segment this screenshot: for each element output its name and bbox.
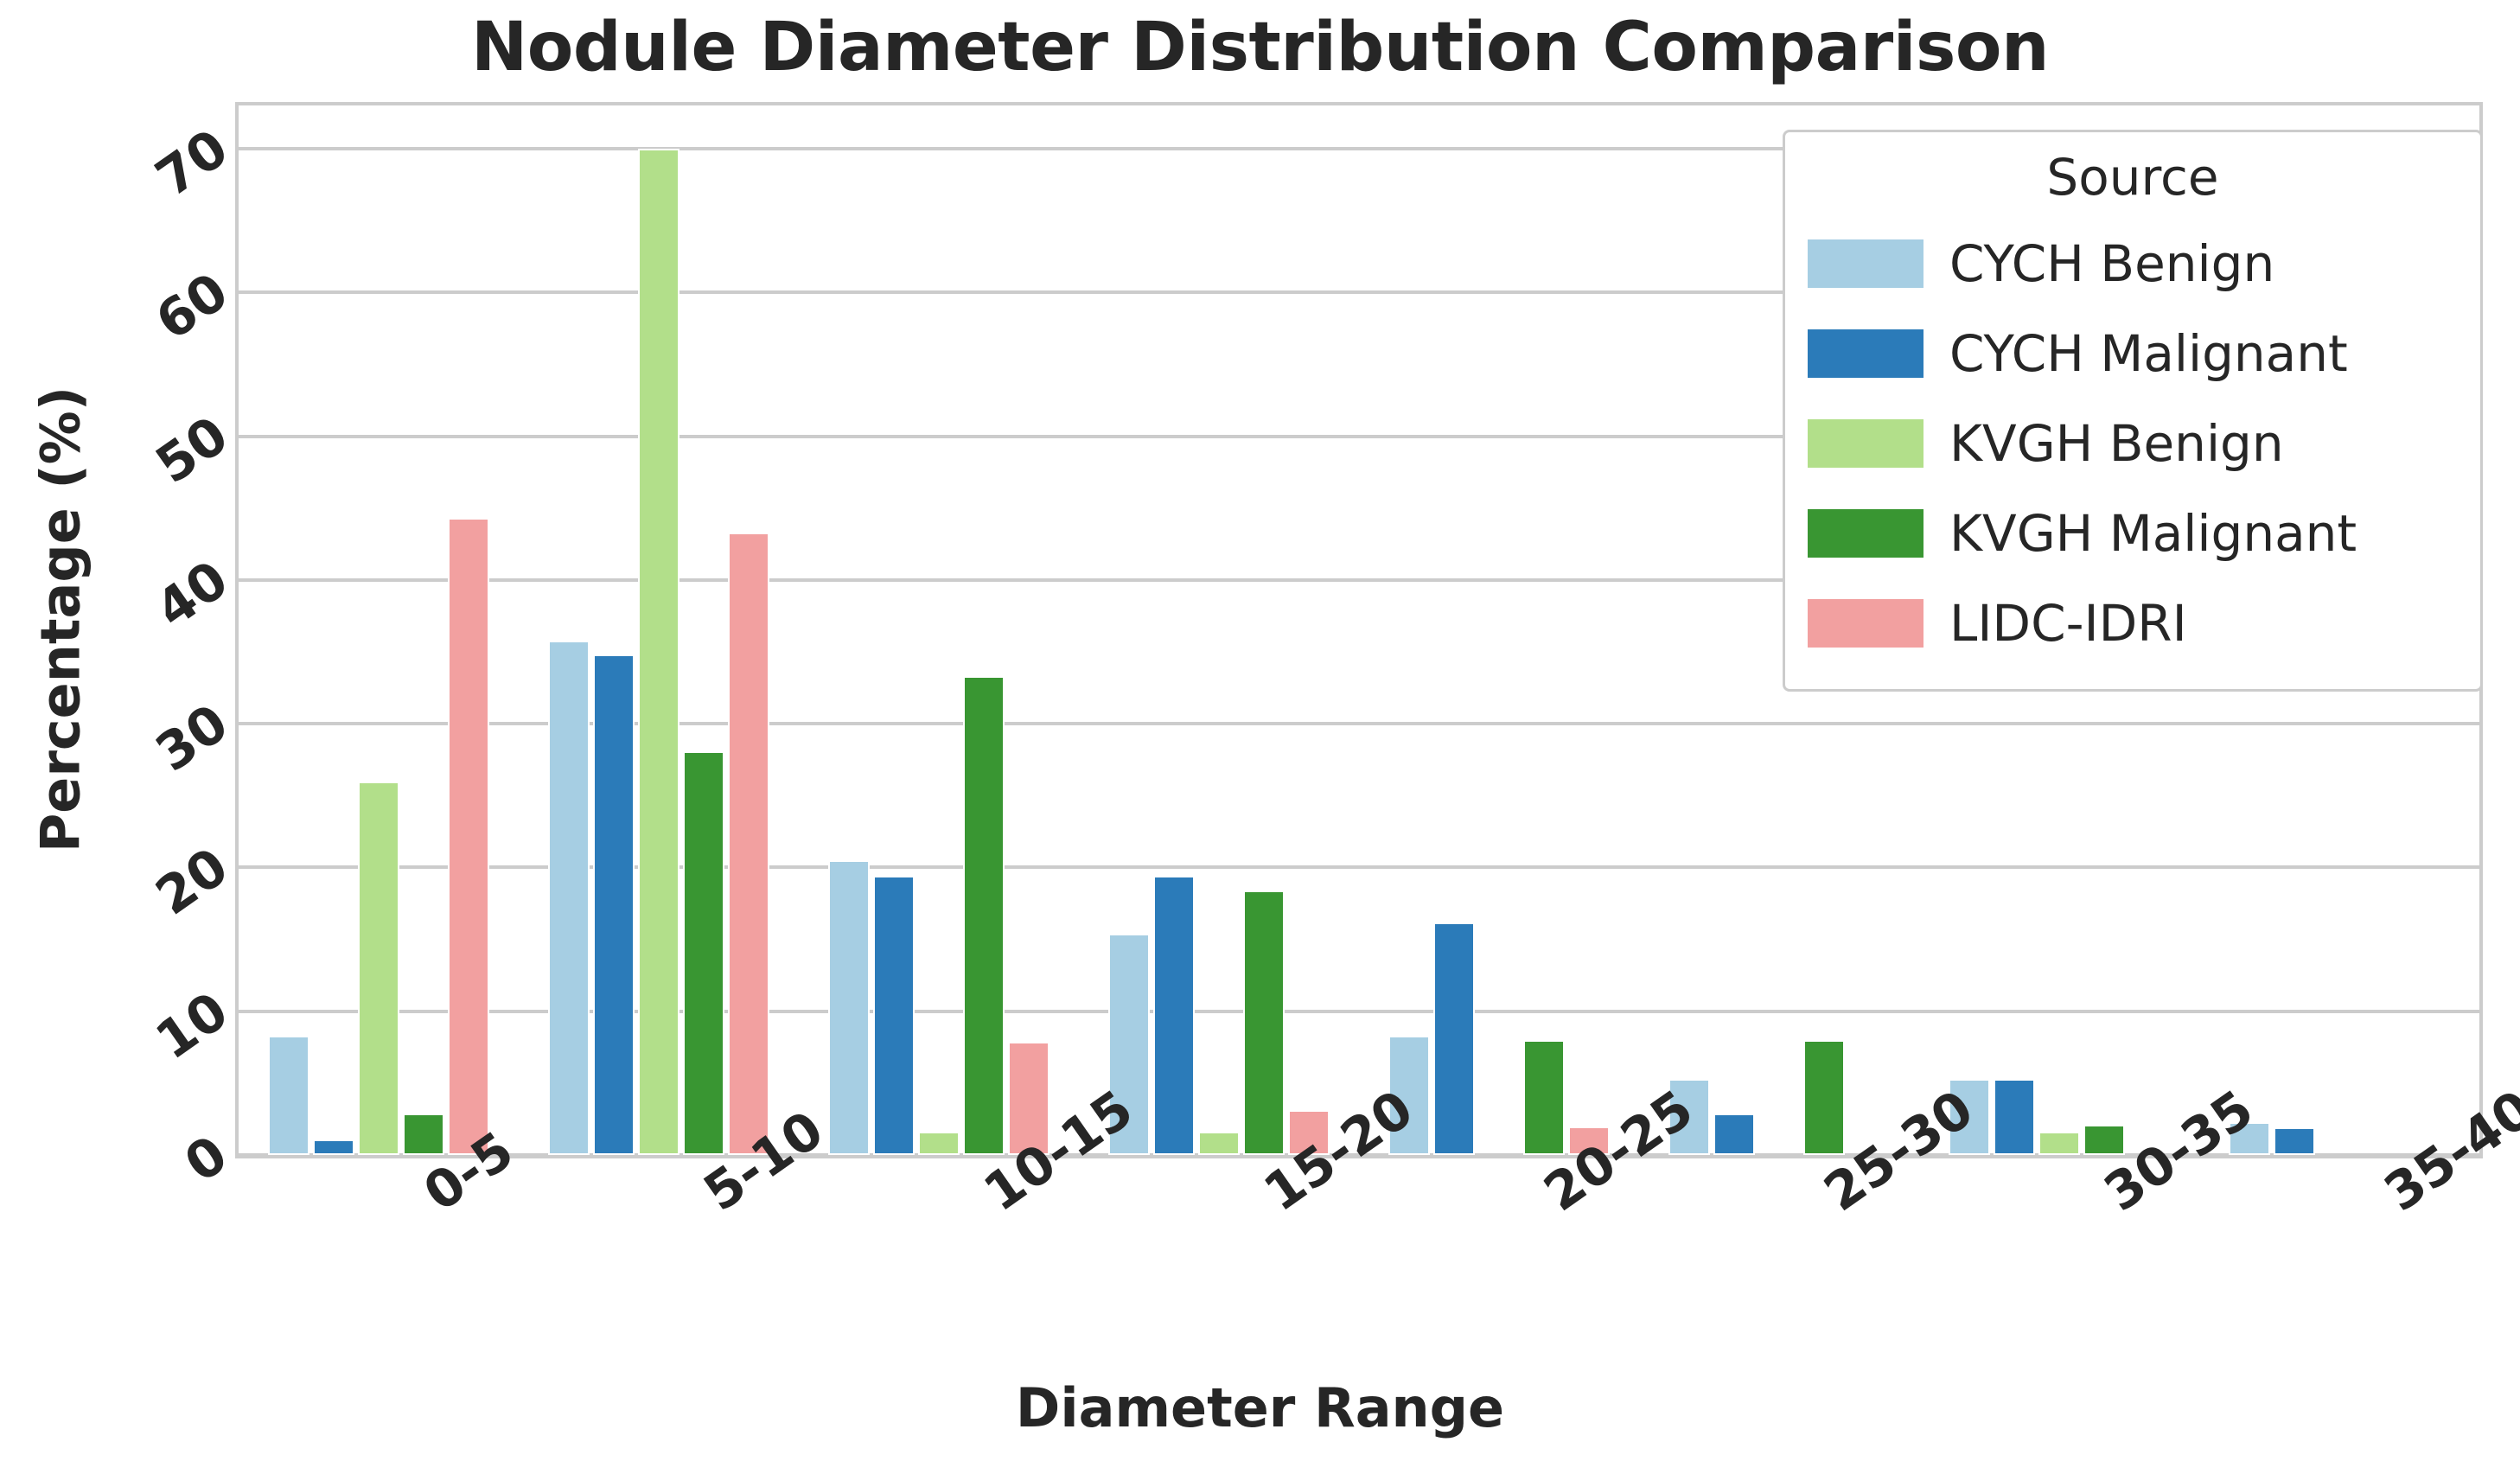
chart-title: Nodule Diameter Distribution Comparison [0,9,2520,86]
bar [1713,1113,1755,1155]
legend-item-label: CYCH Benign [1949,234,2274,293]
bar [1994,1079,2035,1155]
y-axis-title: Percentage (%) [29,231,93,1009]
bar [828,860,870,1155]
bar [1523,1040,1565,1155]
bar [638,149,679,1155]
bar [963,676,1005,1155]
y-tick-label: 30 [145,692,239,783]
legend-item-kvgh-benign[interactable]: KVGH Benign [1808,399,2458,488]
legend: Source CYCH BenignCYCH MalignantKVGH Ben… [1783,130,2483,692]
bar [548,641,590,1155]
x-tick-label: 10-15 [973,1174,1008,1223]
y-tick-label: 40 [145,549,239,640]
legend-item-label: CYCH Malignant [1949,324,2348,383]
chart-figure: Nodule Diameter Distribution Comparison … [0,0,2520,1474]
bar [1433,922,1475,1155]
bar [683,751,724,1155]
y-tick-label: 20 [145,837,239,928]
legend-item-cych-benign[interactable]: CYCH Benign [1808,219,2458,309]
legend-item-cych-malignant[interactable]: CYCH Malignant [1808,309,2458,399]
bar [1803,1040,1845,1155]
legend-item-label: LIDC-IDRI [1949,594,2187,653]
y-tick-label: 10 [145,980,239,1071]
bar [728,533,769,1155]
bar [2038,1132,2080,1155]
y-tick-label: 0 [175,1124,239,1194]
legend-swatch-icon [1808,239,1923,288]
x-tick-label: 30-35 [2094,1174,2128,1223]
y-tick-label: 70 [145,118,239,208]
legend-swatch-icon [1808,599,1923,648]
x-tick-label: 20-25 [1534,1174,1568,1223]
y-tick-label: 60 [145,262,239,353]
legend-title: Source [1808,148,2458,207]
legend-item-lidc-idri[interactable]: LIDC-IDRI [1808,578,2458,668]
x-tick-label: 5-10 [693,1174,728,1223]
bar [403,1113,444,1155]
bar [1198,1132,1240,1155]
bar [313,1139,354,1155]
legend-swatch-icon [1808,509,1923,558]
bar [873,876,915,1155]
legend-swatch-icon [1808,329,1923,378]
bar [2083,1125,2125,1155]
legend-swatch-icon [1808,419,1923,468]
bar [2274,1127,2315,1155]
bar [358,782,399,1155]
x-axis-title: Diameter Range [0,1376,2520,1439]
x-tick-label: 0-5 [413,1174,448,1223]
bar [593,654,635,1155]
bar [448,518,489,1155]
bar [918,1132,960,1155]
legend-item-kvgh-malignant[interactable]: KVGH Malignant [1808,488,2458,578]
x-tick-label: 35-40 [2374,1174,2408,1223]
legend-item-label: KVGH Benign [1949,414,2284,473]
x-tick-label: 25-30 [1814,1174,1848,1223]
bar [1243,890,1285,1155]
legend-rows: CYCH BenignCYCH MalignantKVGH BenignKVGH… [1808,219,2458,668]
x-tick-label: 15-20 [1254,1174,1288,1223]
bar [268,1036,309,1155]
bar [1153,876,1195,1155]
legend-item-label: KVGH Malignant [1949,504,2357,563]
y-tick-label: 50 [145,405,239,496]
